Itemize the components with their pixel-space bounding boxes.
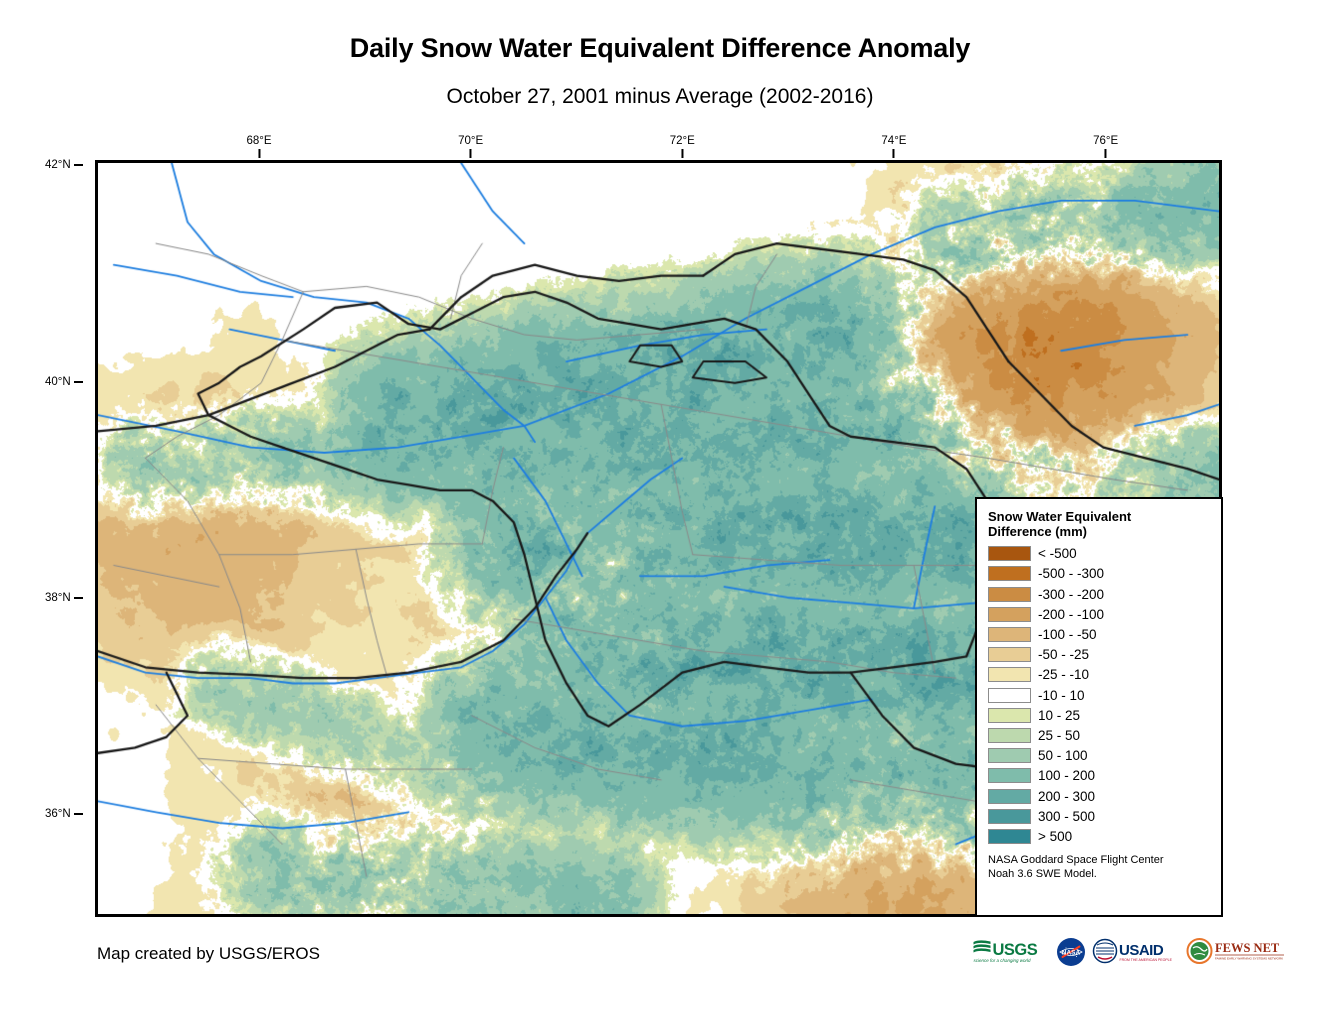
legend-label: 25 - 50 bbox=[1038, 728, 1080, 743]
legend-row: 100 - 200 bbox=[988, 766, 1212, 786]
lon-tick-label: 74°E bbox=[881, 135, 906, 158]
lon-tick-mark bbox=[681, 149, 683, 158]
page-subtitle: October 27, 2001 minus Average (2002-201… bbox=[0, 85, 1320, 109]
lon-tick-text: 76°E bbox=[1093, 135, 1118, 147]
legend-label: 200 - 300 bbox=[1038, 789, 1095, 804]
legend-label: 50 - 100 bbox=[1038, 748, 1088, 763]
legend-row: 50 - 100 bbox=[988, 746, 1212, 766]
legend-label: -50 - -25 bbox=[1038, 647, 1089, 662]
legend-row: -25 - -10 bbox=[988, 665, 1212, 685]
legend-class-list: < -500-500 - -300-300 - -200-200 - -100-… bbox=[988, 544, 1212, 847]
legend-swatch bbox=[988, 607, 1031, 622]
legend-swatch bbox=[988, 708, 1031, 723]
legend-label: -10 - 10 bbox=[1038, 688, 1085, 703]
legend-row: -10 - 10 bbox=[988, 685, 1212, 705]
lon-tick-label: 76°E bbox=[1093, 135, 1118, 158]
svg-text:NASA: NASA bbox=[1062, 950, 1081, 957]
legend-label: -25 - -10 bbox=[1038, 667, 1089, 682]
lat-tick-label: 36°N bbox=[45, 808, 83, 820]
legend-panel: Snow Water Equivalent Difference (mm) < … bbox=[975, 497, 1223, 917]
legend-label: > 500 bbox=[1038, 829, 1072, 844]
legend-swatch bbox=[988, 546, 1031, 561]
legend-row: 10 - 25 bbox=[988, 705, 1212, 725]
legend-label: 10 - 25 bbox=[1038, 708, 1080, 723]
legend-swatch bbox=[988, 647, 1031, 662]
lat-tick-label: 38°N bbox=[45, 592, 83, 604]
legend-label: -300 - -200 bbox=[1038, 587, 1104, 602]
legend-label: 100 - 200 bbox=[1038, 768, 1095, 783]
legend-row: -300 - -200 bbox=[988, 584, 1212, 604]
usgs-logo: USGS science for a changing world bbox=[972, 937, 1050, 967]
lat-tick-text: 36°N bbox=[45, 808, 71, 820]
legend-row: > 500 bbox=[988, 826, 1212, 846]
logo-bar: USGS science for a changing world NASA U… bbox=[972, 935, 1286, 969]
lon-tick-mark bbox=[470, 149, 472, 158]
legend-row: -50 - -25 bbox=[988, 645, 1212, 665]
legend-label: -200 - -100 bbox=[1038, 607, 1104, 622]
svg-text:science for a changing world: science for a changing world bbox=[974, 958, 1032, 963]
legend-row: 25 - 50 bbox=[988, 725, 1212, 745]
fewsnet-logo: FEWS NET FAMINE EARLY WARNING SYSTEMS NE… bbox=[1186, 937, 1286, 967]
title-block: Daily Snow Water Equivalent Difference A… bbox=[0, 34, 1320, 109]
lat-tick-text: 42°N bbox=[45, 159, 71, 171]
legend-label: < -500 bbox=[1038, 546, 1077, 561]
legend-row: 200 - 300 bbox=[988, 786, 1212, 806]
lon-tick-label: 70°E bbox=[458, 135, 483, 158]
legend-row: < -500 bbox=[988, 544, 1212, 564]
legend-source-note: NASA Goddard Space Flight Center Noah 3.… bbox=[988, 854, 1212, 882]
lon-tick-text: 68°E bbox=[246, 135, 271, 147]
legend-row: -200 - -100 bbox=[988, 604, 1212, 624]
lat-tick-text: 38°N bbox=[45, 592, 71, 604]
lat-tick-mark bbox=[74, 164, 83, 166]
usaid-logo: USAID FROM THE AMERICAN PEOPLE bbox=[1092, 937, 1180, 967]
legend-swatch bbox=[988, 688, 1031, 703]
legend-source-line2: Noah 3.6 SWE Model. bbox=[988, 868, 1212, 882]
svg-text:USGS: USGS bbox=[993, 941, 1038, 959]
lat-tick-label: 42°N bbox=[45, 159, 83, 171]
lon-tick-label: 68°E bbox=[246, 135, 271, 158]
legend-title-line1: Snow Water Equivalent bbox=[988, 509, 1168, 524]
legend-row: 300 - 500 bbox=[988, 806, 1212, 826]
legend-swatch bbox=[988, 809, 1031, 824]
legend-swatch bbox=[988, 728, 1031, 743]
legend-swatch bbox=[988, 768, 1031, 783]
lat-tick-mark bbox=[74, 597, 83, 599]
legend-title-line2: Difference (mm) bbox=[988, 524, 1168, 539]
svg-text:FROM THE AMERICAN PEOPLE: FROM THE AMERICAN PEOPLE bbox=[1120, 958, 1173, 962]
lat-tick-mark bbox=[74, 813, 83, 815]
lon-tick-text: 72°E bbox=[670, 135, 695, 147]
lon-tick-mark bbox=[1105, 149, 1107, 158]
map-credit: Map created by USGS/EROS bbox=[97, 944, 320, 964]
legend-label: -500 - -300 bbox=[1038, 566, 1104, 581]
legend-source-line1: NASA Goddard Space Flight Center bbox=[988, 854, 1212, 868]
legend-swatch bbox=[988, 566, 1031, 581]
lon-tick-text: 70°E bbox=[458, 135, 483, 147]
lon-tick-label: 72°E bbox=[670, 135, 695, 158]
svg-text:FEWS NET: FEWS NET bbox=[1215, 941, 1280, 955]
lat-tick-text: 40°N bbox=[45, 376, 71, 388]
legend-swatch bbox=[988, 748, 1031, 763]
nasa-logo: NASA bbox=[1056, 937, 1086, 967]
legend-swatch bbox=[988, 789, 1031, 804]
lat-tick-label: 40°N bbox=[45, 376, 83, 388]
lon-tick-mark bbox=[893, 149, 895, 158]
legend-swatch bbox=[988, 667, 1031, 682]
lon-tick-text: 74°E bbox=[881, 135, 906, 147]
legend-swatch bbox=[988, 627, 1031, 642]
legend-swatch bbox=[988, 587, 1031, 602]
legend-row: -500 - -300 bbox=[988, 564, 1212, 584]
page-title: Daily Snow Water Equivalent Difference A… bbox=[0, 34, 1320, 64]
svg-text:FAMINE EARLY WARNING SYSTEMS N: FAMINE EARLY WARNING SYSTEMS NETWORK bbox=[1215, 957, 1283, 961]
svg-text:USAID: USAID bbox=[1119, 942, 1164, 959]
legend-label: -100 - -50 bbox=[1038, 627, 1097, 642]
legend-title: Snow Water Equivalent Difference (mm) bbox=[988, 509, 1168, 540]
lon-tick-mark bbox=[258, 149, 260, 158]
legend-row: -100 - -50 bbox=[988, 624, 1212, 644]
lat-tick-mark bbox=[74, 381, 83, 383]
legend-label: 300 - 500 bbox=[1038, 809, 1095, 824]
legend-swatch bbox=[988, 829, 1031, 844]
